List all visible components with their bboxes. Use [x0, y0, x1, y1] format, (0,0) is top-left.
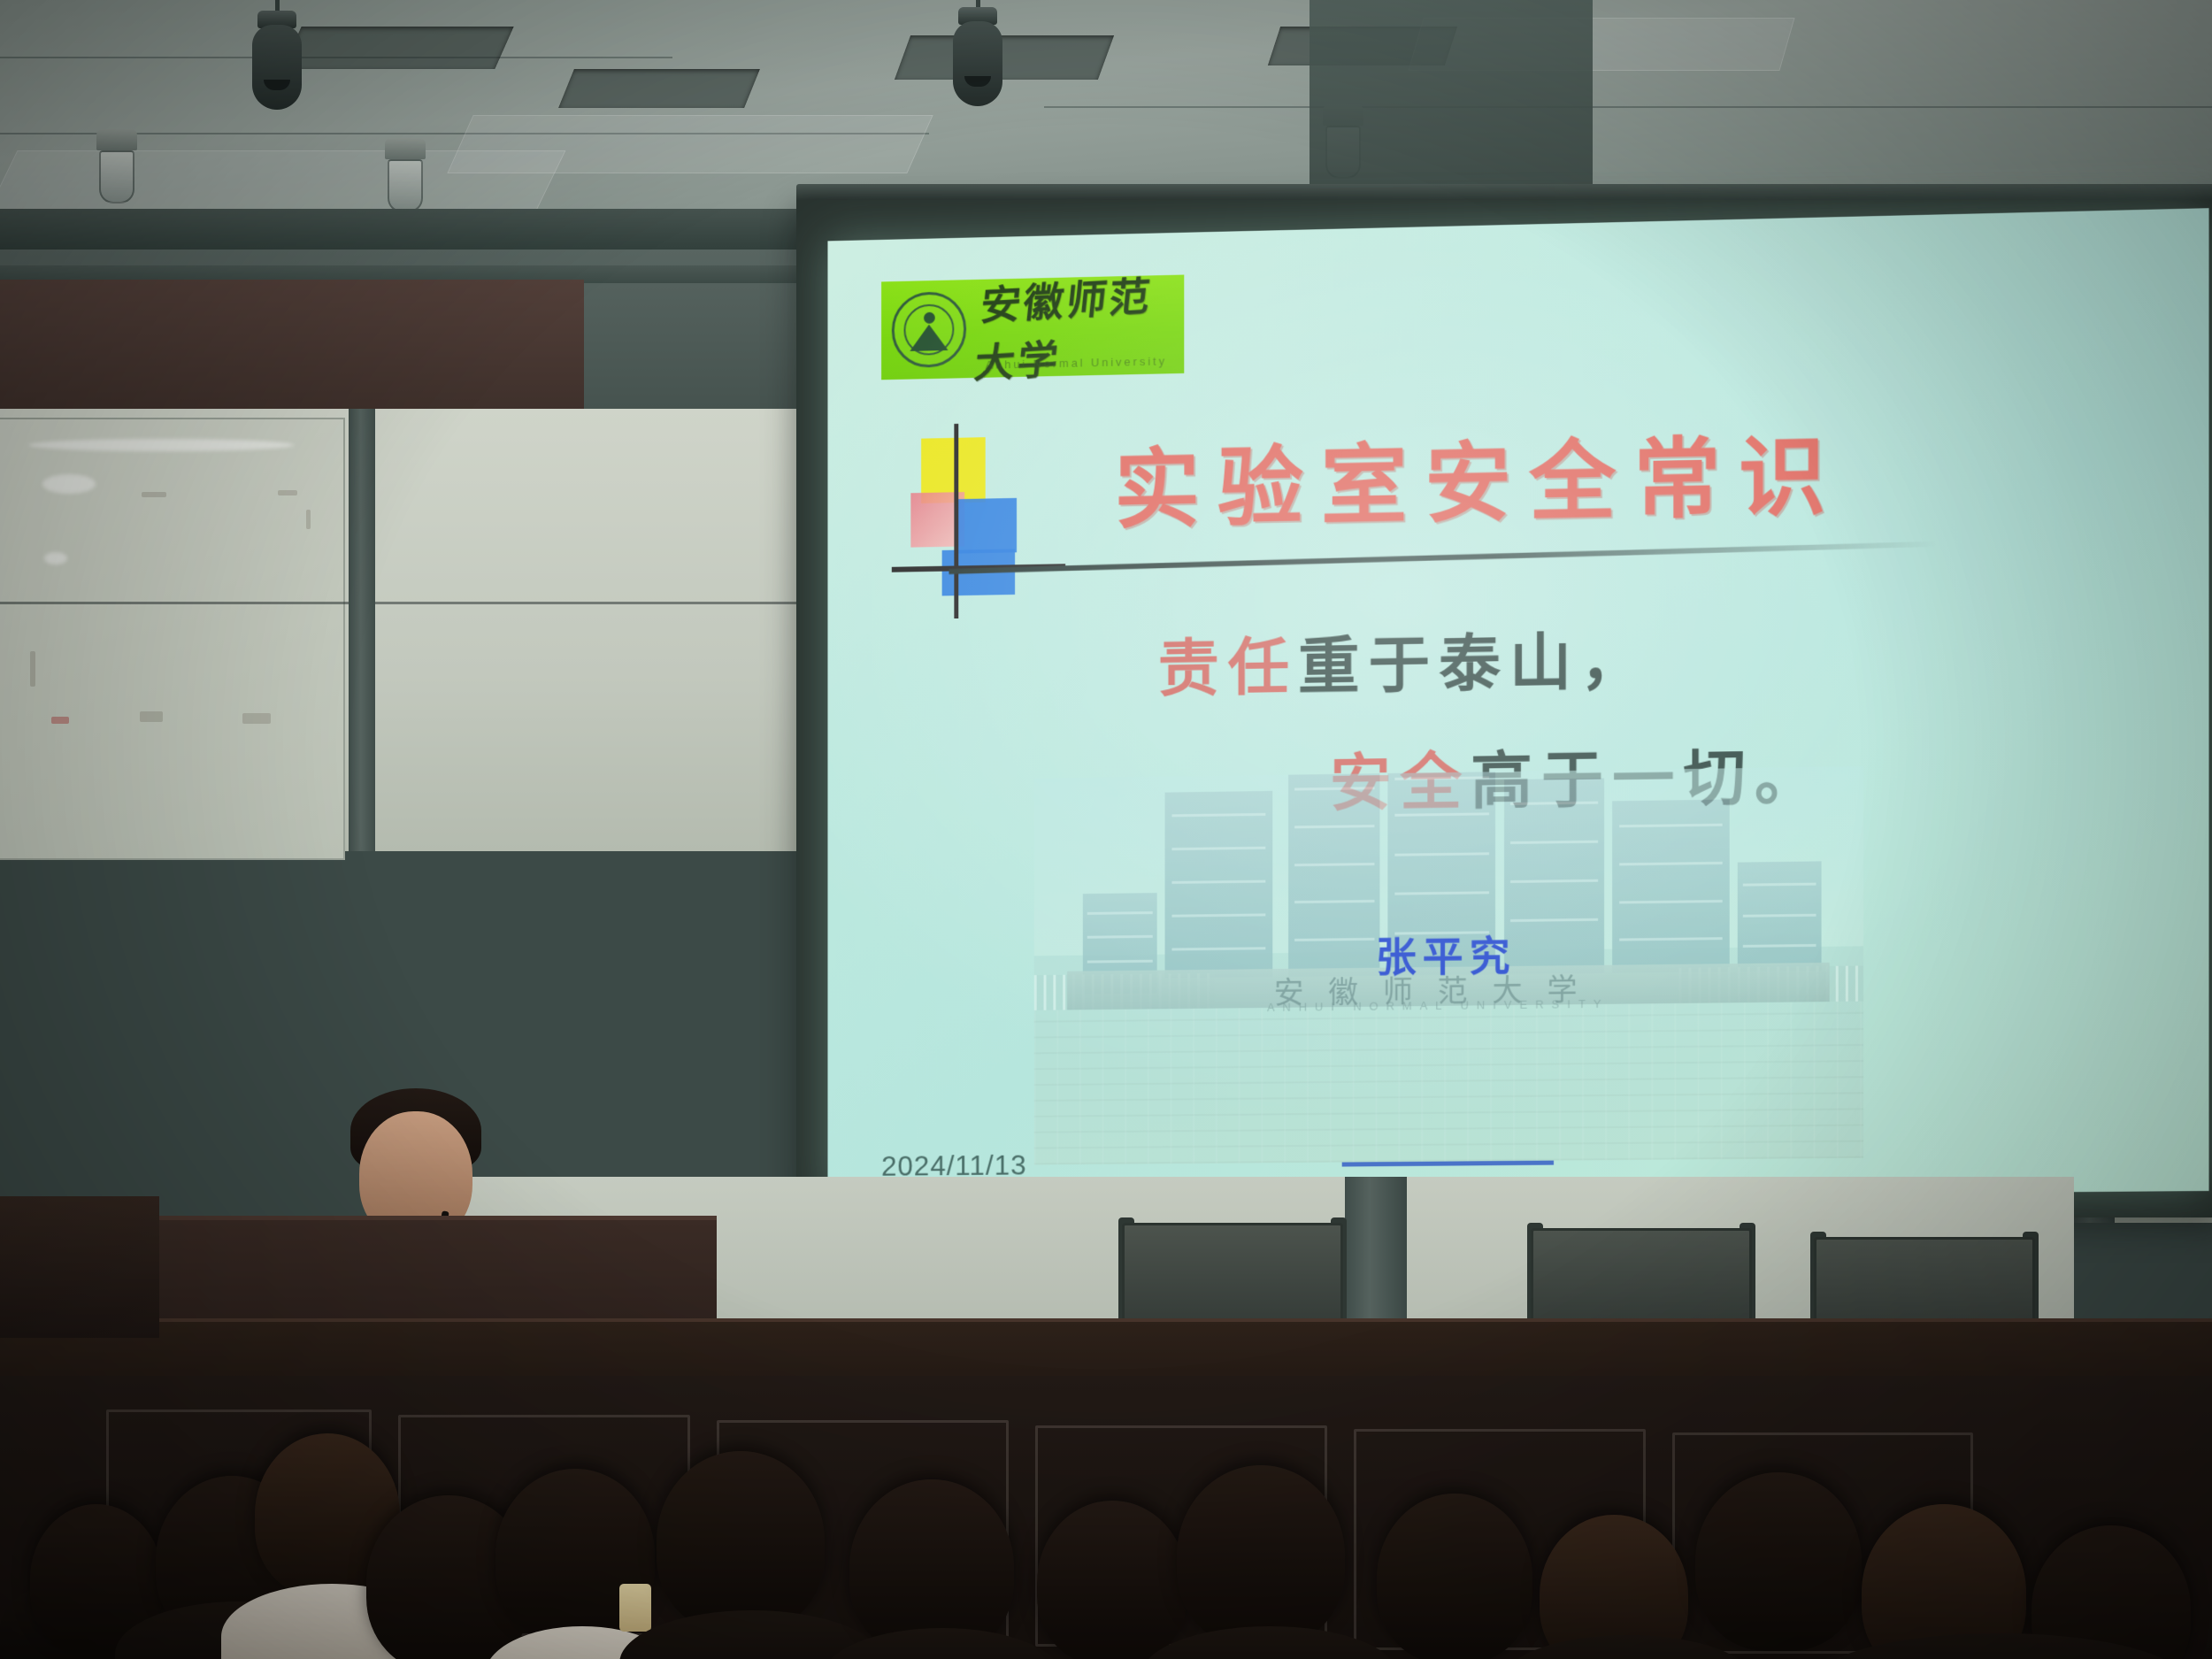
- wall-seam: [0, 602, 356, 604]
- smartphone: [619, 1584, 651, 1632]
- upper-wall-band: [0, 280, 584, 421]
- title-underline: [949, 541, 1937, 574]
- center-wall: [375, 409, 800, 851]
- decorative-squares: [910, 436, 1041, 605]
- ceiling-beam-right: [1310, 0, 1593, 212]
- slide-title: 实验室安全常识: [1114, 399, 2134, 545]
- projection-screen-frame: 安徽师范大学 Anhui Normal University 实验室安全常识 责…: [796, 200, 2212, 1217]
- quote-line1-rest: 重于泰山，: [1298, 628, 1651, 703]
- projection-screen: 安徽师范大学 Anhui Normal University 实验室安全常识 责…: [827, 208, 2208, 1202]
- ceiling-beam: [0, 209, 796, 250]
- lecture-hall-photo: 安徽师范大学 Anhui Normal University 实验室安全常识 责…: [0, 0, 2212, 1659]
- wall-pillar: [349, 409, 379, 851]
- vertical-rule: [954, 424, 958, 618]
- stage-pillar: [1345, 1177, 1407, 1336]
- ceiling-spotlight: [920, 0, 1035, 124]
- ceiling-panel: [447, 115, 933, 173]
- blue-square: [956, 498, 1017, 554]
- ceiling-light-slot: [558, 69, 760, 108]
- university-logo-band: 安徽师范大学 Anhui Normal University: [881, 275, 1184, 380]
- blue-divider: [1342, 1161, 1554, 1167]
- audience-member: [1037, 1501, 1187, 1659]
- presenter-name: 张平究: [1034, 919, 1863, 987]
- wall-seam: [375, 602, 800, 604]
- audience-member: [657, 1451, 825, 1632]
- desk-left-end: [0, 1196, 159, 1338]
- audience-member: [1177, 1465, 1345, 1647]
- quote-line1-emphasis: 责任: [1158, 634, 1298, 704]
- audience-member: [1695, 1472, 1862, 1651]
- university-seal-icon: [892, 291, 966, 368]
- audience-member: [1377, 1494, 1532, 1659]
- whiteboard: [0, 418, 345, 860]
- ceiling-spotlight: [219, 0, 334, 127]
